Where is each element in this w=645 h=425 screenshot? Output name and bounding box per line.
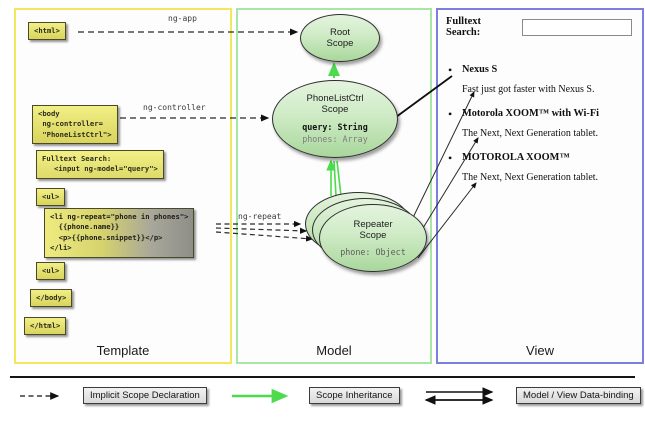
edge-label-ng-app: ng-app [168,14,197,23]
repeater-scope-line1: Repeater [353,219,392,230]
phonelist-scope-prop-phones: phones: Array [302,134,368,145]
scope-node-phonelistctrl[interactable]: PhoneListCtrl Scope query: String phones… [272,80,398,158]
panel-view-label: View [438,343,642,358]
code-box-ul-open[interactable]: <ul> [36,188,65,206]
code-box-ul-close[interactable]: <ul> [36,262,65,280]
legend-label-data-binding: Model / View Data-binding [516,387,641,404]
fulltext-search-input[interactable] [522,19,632,36]
diagram-canvas: Template Model View [0,0,645,425]
phonelist-scope-line1: PhoneListCtrl [306,93,363,104]
scope-node-root[interactable]: Root Scope [300,14,380,62]
legend-label-scope-inheritance: Scope Inheritance [309,387,400,404]
view-search-row: Fulltext Search: [446,16,632,38]
legend-item-implicit-scope: Implicit Scope Declaration [28,387,207,404]
phonelist-scope-line2: Scope [322,104,349,115]
phone-name: Nexus S [462,64,632,75]
code-box-search[interactable]: Fulltext Search:<input ng-model="query"> [36,150,164,179]
code-box-html-close[interactable]: </html> [24,317,66,335]
code-box-html-open[interactable]: <html> [28,22,66,40]
view-phone-list: Nexus S Fast just got faster with Nexus … [446,64,632,183]
list-item[interactable]: Nexus S Fast just got faster with Nexus … [446,64,632,95]
phonelist-scope-prop-query: query: String [302,122,368,133]
scope-node-repeater-stack: Repeater Scope phone: Object [305,192,425,270]
phone-snippet: The Next, Next Generation tablet. [462,128,632,139]
phone-snippet: Fast just got faster with Nexus S. [462,84,632,95]
legend-label-implicit-scope: Implicit Scope Declaration [83,387,207,404]
view-search-label: Fulltext Search: [446,16,517,38]
legend-item-scope-inheritance: Scope Inheritance [238,387,400,404]
panel-model-label: Model [238,343,430,358]
phone-name: Motorola XOOM™ with Wi-Fi [462,108,632,119]
list-item[interactable]: Motorola XOOM™ with Wi-Fi The Next, Next… [446,108,632,139]
panel-template-label: Template [16,343,230,358]
repeater-scope-line2: Scope [360,230,387,241]
list-item[interactable]: MOTOROLA XOOM™ The Next, Next Generation… [446,152,632,183]
repeater-scope-prop-phone: phone: Object [340,247,406,257]
code-box-body-close[interactable]: </body> [30,289,72,307]
code-box-li-ng-repeat[interactable]: <li ng-repeat="phone in phones"> {{phone… [44,208,194,258]
root-scope-line1: Root [330,27,350,38]
legend-item-data-binding: Model / View Data-binding [433,387,641,404]
panel-template: Template [14,8,232,364]
phone-snippet: The Next, Next Generation tablet. [462,172,632,183]
code-box-body-open[interactable]: <body ng-controller= "PhoneListCtrl"> [32,105,118,144]
legend-divider [10,376,635,378]
edge-label-ng-controller: ng-controller [143,103,206,112]
phone-name: MOTOROLA XOOM™ [462,152,632,163]
legend: Implicit Scope Declaration Scope Inherit… [10,383,635,417]
view-rendered-app: Fulltext Search: Nexus S Fast just got f… [446,16,632,196]
code-search-input-tag: <input ng-model="query"> [42,164,158,173]
edge-label-ng-repeat: ng-repeat [238,212,281,221]
code-search-label: Fulltext Search: [42,154,111,163]
scope-node-repeater[interactable]: Repeater Scope phone: Object [319,204,427,272]
root-scope-line2: Scope [327,38,354,49]
